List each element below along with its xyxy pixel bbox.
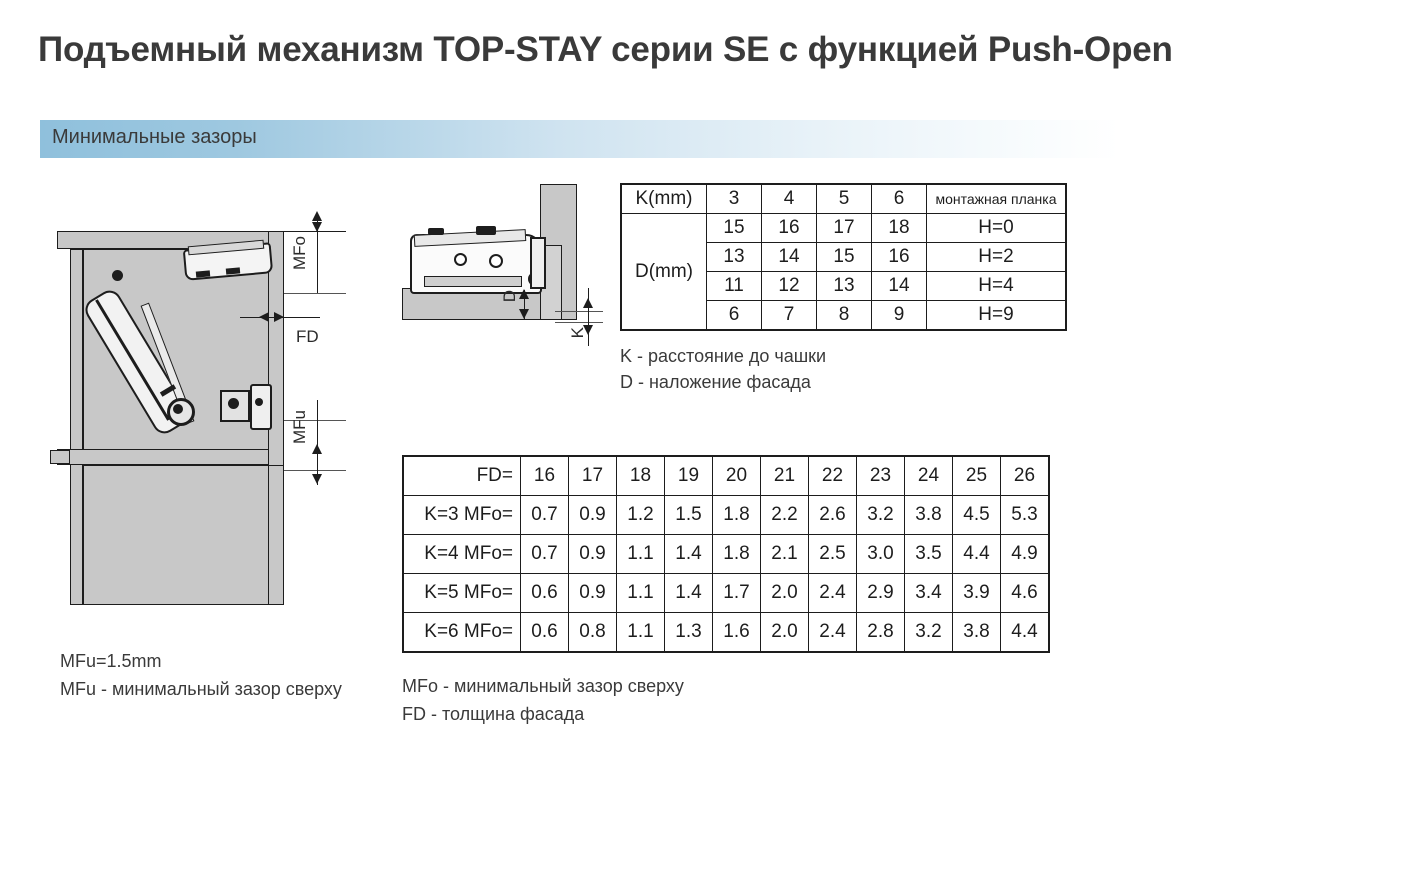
k-extension-line-top <box>555 311 603 312</box>
kd-cell: 16 <box>872 243 927 272</box>
fd-header-cell: 22 <box>809 456 857 496</box>
fd-cell: 1.8 <box>713 535 761 574</box>
fd-cell: 3.2 <box>905 613 953 653</box>
mfo-arrow-bottom <box>312 222 322 232</box>
fd-row-label: K=6 MFo= <box>403 613 521 653</box>
d-label: D <box>500 290 520 302</box>
fd-cell: 2.2 <box>761 496 809 535</box>
door-hinge-pin <box>255 398 263 406</box>
kd-cell: 14 <box>762 243 817 272</box>
fd-cell: 1.1 <box>617 613 665 653</box>
fd-cell: 0.8 <box>569 613 617 653</box>
k-arrow-top <box>583 298 593 308</box>
mfu-label: MFu <box>290 410 310 444</box>
lift-arm-pivot-lower-core <box>173 404 183 414</box>
fd-table-row: K=3 MFo= 0.7 0.9 1.2 1.5 1.8 2.2 2.6 3.2… <box>403 496 1049 535</box>
cabinet-interior-lower <box>83 465 271 605</box>
fd-cell: 4.5 <box>953 496 1001 535</box>
kd-k-value: 4 <box>762 184 817 214</box>
fd-cell: 0.6 <box>521 574 569 613</box>
fd-cell: 2.6 <box>809 496 857 535</box>
fd-cell: 0.9 <box>569 535 617 574</box>
arm-mount-plate-pin <box>228 398 239 409</box>
kd-k-value: 6 <box>872 184 927 214</box>
kd-legend-line-d: D - наложение фасада <box>620 370 826 396</box>
fd-cell: 5.3 <box>1001 496 1050 535</box>
mfo-arrow-top <box>312 211 322 221</box>
fd-row-label: K=3 MFo= <box>403 496 521 535</box>
fd-cell: 1.1 <box>617 574 665 613</box>
cabinet-shelf-rail <box>57 449 271 465</box>
door-panel-lower <box>268 465 284 605</box>
mechanism-top-knob <box>476 226 496 235</box>
fd-cell: 0.7 <box>521 496 569 535</box>
left-legend-mfu-value: MFu=1.5mm <box>60 648 342 676</box>
kd-k-value: 5 <box>817 184 872 214</box>
kd-cell: 11 <box>707 272 762 301</box>
fd-cell: 3.0 <box>857 535 905 574</box>
kd-cell: 7 <box>762 301 817 331</box>
left-legend-mfu-desc: MFu - минимальный зазор сверху <box>60 676 342 704</box>
fd-cell: 1.4 <box>665 535 713 574</box>
kd-table: K(mm) 3 4 5 6 монтажная планка D(mm) 15 … <box>620 183 1067 331</box>
kd-table-row: D(mm) 15 16 17 18 H=0 <box>621 214 1066 243</box>
page-title: Подъемный механизм TOP-STAY серии SE с ф… <box>38 30 1378 70</box>
fd-cell: 3.5 <box>905 535 953 574</box>
kd-legend: K - расстояние до чашки D - наложение фа… <box>620 344 826 395</box>
fd-row-label: K=5 MFo= <box>403 574 521 613</box>
fd-row-label: K=4 MFo= <box>403 535 521 574</box>
fd-header-cell: 25 <box>953 456 1001 496</box>
fd-cell: 4.4 <box>953 535 1001 574</box>
mfo-extension-line-bottom <box>284 293 346 294</box>
middle-legend: MFo - минимальный зазор сверху FD - толщ… <box>402 673 684 729</box>
fd-header-label: FD= <box>403 456 521 496</box>
fd-header-cell: 16 <box>521 456 569 496</box>
fd-cell: 1.4 <box>665 574 713 613</box>
kd-legend-line-k: K - расстояние до чашки <box>620 344 826 370</box>
fd-table-row: K=6 MFo= 0.6 0.8 1.1 1.3 1.6 2.0 2.4 2.8… <box>403 613 1049 653</box>
fd-cell: 2.4 <box>809 574 857 613</box>
door-hinge-bracket <box>250 384 272 430</box>
lift-arm-pivot-upper <box>112 270 123 281</box>
fd-table-header-row: FD= 16 17 18 19 20 21 22 23 24 25 26 <box>403 456 1049 496</box>
k-label: K <box>568 327 588 338</box>
mechanism-base-plate <box>424 276 522 287</box>
kd-cell: 14 <box>872 272 927 301</box>
kd-cell: 8 <box>817 301 872 331</box>
fd-arrow-left <box>259 312 269 322</box>
kd-table-header-row: K(mm) 3 4 5 6 монтажная планка <box>621 184 1066 214</box>
mechanism-pivot-b <box>489 254 503 268</box>
fd-cell: 2.9 <box>857 574 905 613</box>
mfu-arrow-bottom <box>312 474 322 484</box>
lift-mechanism-foot-right <box>226 267 240 274</box>
fd-cell: 0.7 <box>521 535 569 574</box>
fd-cell: 1.1 <box>617 535 665 574</box>
kd-header-label: K(mm) <box>621 184 707 214</box>
section-header-label: Минимальные зазоры <box>52 126 257 149</box>
fd-cell: 2.1 <box>761 535 809 574</box>
mfu-dimension-line <box>317 400 318 485</box>
kd-k-value: 3 <box>707 184 762 214</box>
kd-cell: 6 <box>707 301 762 331</box>
fd-cell: 0.9 <box>569 574 617 613</box>
fd-header-cell: 20 <box>713 456 761 496</box>
left-legend: MFu=1.5mm MFu - минимальный зазор сверху <box>60 648 342 704</box>
kd-mount-cell: H=0 <box>927 214 1067 243</box>
k-extension-line-bottom <box>555 322 603 323</box>
kd-cell: 9 <box>872 301 927 331</box>
fd-cell: 3.4 <box>905 574 953 613</box>
fd-cell: 0.9 <box>569 496 617 535</box>
fd-arrow-right <box>274 312 284 322</box>
fd-cell: 2.0 <box>761 613 809 653</box>
middle-legend-mfo-desc: MFo - минимальный зазор сверху <box>402 673 684 701</box>
d-arrow-bottom <box>519 309 529 319</box>
mechanism-mounting-plate-side <box>530 237 546 289</box>
fd-header-cell: 23 <box>857 456 905 496</box>
fd-header-cell: 18 <box>617 456 665 496</box>
fd-cell: 2.4 <box>809 613 857 653</box>
fd-cell: 2.0 <box>761 574 809 613</box>
kd-mount-cell: H=9 <box>927 301 1067 331</box>
fd-cell: 3.8 <box>953 613 1001 653</box>
fd-cell: 1.2 <box>617 496 665 535</box>
fd-cell: 1.8 <box>713 496 761 535</box>
cabinet-left-stile <box>70 249 83 605</box>
fd-table-row: K=5 MFo= 0.6 0.9 1.1 1.4 1.7 2.0 2.4 2.9… <box>403 574 1049 613</box>
kd-mount-cell: H=4 <box>927 272 1067 301</box>
kd-cell: 15 <box>707 214 762 243</box>
fd-cell: 3.8 <box>905 496 953 535</box>
fd-header-cell: 19 <box>665 456 713 496</box>
fd-header-cell: 26 <box>1001 456 1050 496</box>
kd-cell: 16 <box>762 214 817 243</box>
fd-cell: 0.6 <box>521 613 569 653</box>
kd-mount-cell: H=2 <box>927 243 1067 272</box>
kd-cell: 13 <box>817 272 872 301</box>
kd-cell: 18 <box>872 214 927 243</box>
d-arrow-top <box>519 289 529 299</box>
fd-cell: 1.3 <box>665 613 713 653</box>
kd-row-label: D(mm) <box>621 214 707 331</box>
fd-cell: 3.9 <box>953 574 1001 613</box>
mfo-label: MFo <box>290 236 310 270</box>
fd-cell: 4.6 <box>1001 574 1050 613</box>
fd-cell: 4.4 <box>1001 613 1050 653</box>
lift-mechanism-foot-left <box>196 270 210 277</box>
mfu-arrow-top <box>312 444 322 454</box>
fd-cell: 3.2 <box>857 496 905 535</box>
kd-cell: 17 <box>817 214 872 243</box>
fd-label: FD <box>296 327 319 347</box>
fd-cell: 1.5 <box>665 496 713 535</box>
fd-cell: 2.5 <box>809 535 857 574</box>
k-dimension-line <box>588 288 589 346</box>
kd-cell: 12 <box>762 272 817 301</box>
mechanism-top-tab <box>428 228 444 235</box>
fd-header-cell: 24 <box>905 456 953 496</box>
fd-cell: 1.7 <box>713 574 761 613</box>
fd-cell: 2.8 <box>857 613 905 653</box>
kd-cell: 13 <box>707 243 762 272</box>
mfu-extension-line-bottom <box>284 470 346 471</box>
fd-cell: 1.6 <box>713 613 761 653</box>
fd-header-cell: 21 <box>761 456 809 496</box>
kd-mount-header: монтажная планка <box>927 184 1067 214</box>
mechanism-pivot-a <box>454 253 467 266</box>
cabinet-left-bracket <box>50 450 70 464</box>
fd-cell: 4.9 <box>1001 535 1050 574</box>
middle-legend-fd-desc: FD - толщина фасада <box>402 701 684 729</box>
fd-header-cell: 17 <box>569 456 617 496</box>
kd-cell: 15 <box>817 243 872 272</box>
fd-table-row: K=4 MFo= 0.7 0.9 1.1 1.4 1.8 2.1 2.5 3.0… <box>403 535 1049 574</box>
fd-table: FD= 16 17 18 19 20 21 22 23 24 25 26 K=3… <box>402 455 1050 653</box>
